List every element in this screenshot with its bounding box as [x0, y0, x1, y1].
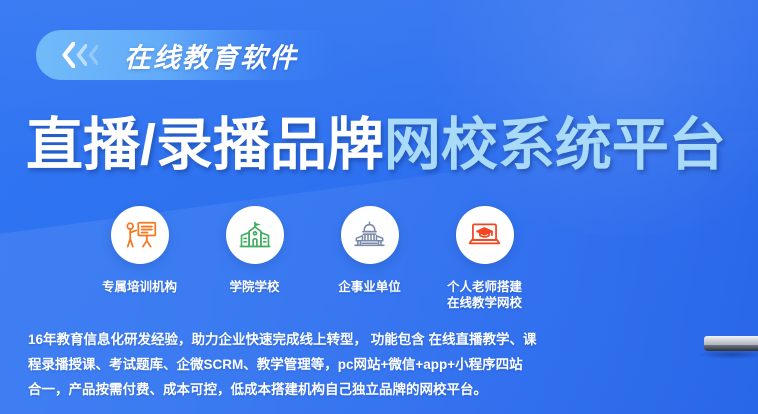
chevron-left-icon-group [62, 42, 98, 68]
feature-label-line2: 在线教学网校 [447, 295, 522, 311]
teacher-whiteboard-icon [123, 220, 157, 251]
description-line-2: 程录播授课、考试题库、企微SCRM、教学管理等，pc网站+微信+app+小程序四… [28, 352, 584, 377]
feature-icon-circle [456, 206, 514, 264]
feature-label-line1: 企事业单位 [338, 280, 401, 294]
feature-item-training-institution[interactable]: 专属培训机构 [82, 206, 197, 295]
government-building-icon [353, 221, 386, 249]
feature-label: 个人老师搭建 在线教学网校 [447, 279, 522, 311]
feature-item-individual-teacher[interactable]: 个人老师搭建 在线教学网校 [427, 206, 542, 311]
chevron-left-icon-secondary [76, 44, 87, 66]
description-paragraph: 16年教育信息化研发经验，助力企业快速完成线上转型， 功能包含 在线直播教学、课… [28, 327, 584, 402]
feature-list: 专属培训机构 [82, 206, 542, 311]
feature-item-college-school[interactable]: 学院学校 [197, 206, 312, 295]
feature-label: 学院学校 [229, 279, 279, 295]
feature-label-line1: 专属培训机构 [102, 280, 177, 294]
chevron-left-icon [62, 42, 75, 68]
page-title-accent: 网校系统平台 [384, 113, 726, 177]
feature-label: 专属培训机构 [102, 279, 177, 295]
feature-label-line1: 学院学校 [229, 280, 279, 294]
page-title-primary: 直播/录播品牌 [26, 113, 384, 177]
feature-label: 企事业单位 [338, 279, 401, 295]
page-title: 直播/录播品牌网校系统平台 [26, 114, 738, 176]
feature-icon-circle [111, 206, 169, 264]
laptop-device-icon [704, 336, 758, 356]
laptop-device-shadow [698, 350, 758, 359]
eyebrow-label: 在线教育软件 [124, 36, 298, 75]
promo-banner: 在线教育软件 直播/录播品牌网校系统平台 [0, 0, 758, 414]
feature-icon-circle [341, 206, 399, 264]
feature-label-line1: 个人老师搭建 [447, 280, 522, 294]
description-line-3: 合一，产品按需付费、成本可控，低成本搭建机构自己独立品牌的网校平台。 [28, 377, 584, 402]
school-building-icon [239, 221, 271, 250]
description-line-1: 16年教育信息化研发经验，助力企业快速完成线上转型， 功能包含 在线直播教学、课 [28, 327, 584, 352]
laptop-screen-edge [704, 336, 758, 345]
feature-item-enterprise-unit[interactable]: 企事业单位 [312, 206, 427, 295]
chevron-left-icon-tertiary [88, 45, 98, 65]
laptop-graduation-cap-icon [468, 222, 501, 249]
eyebrow-badge: 在线教育软件 [36, 30, 366, 80]
laptop-base [704, 345, 758, 351]
feature-icon-circle [226, 206, 284, 264]
